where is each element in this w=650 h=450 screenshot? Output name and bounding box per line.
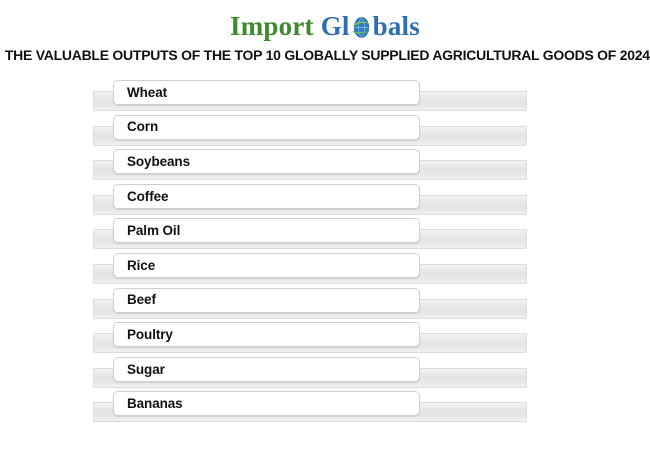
bar-label: Sugar — [114, 363, 165, 377]
bar-label: Corn — [114, 120, 158, 134]
bar-label: Palm Oil — [114, 224, 180, 238]
bar-label: Poultry — [114, 328, 173, 342]
brand-word-import: Import — [230, 13, 314, 40]
bar-label-plate[interactable]: Coffee — [113, 184, 420, 209]
page-title: THE VALUABLE OUTPUTS OF THE TOP 10 GLOBA… — [5, 48, 645, 64]
infographic-page: Import Gl bals THE VALUABLE OUTPUTS OF T… — [0, 0, 650, 450]
brand-logo-text: Import Gl bals — [230, 13, 420, 40]
chart-row: Beef — [0, 288, 650, 322]
chart-row: Palm Oil — [0, 218, 650, 252]
brand-logo: Import Gl bals — [0, 8, 650, 44]
bar-label: Beef — [114, 293, 156, 307]
bar-label-plate[interactable]: Bananas — [113, 391, 420, 416]
bar-label-plate[interactable]: Corn — [113, 115, 420, 140]
bar-label-plate[interactable]: Beef — [113, 288, 420, 313]
bar-label-plate[interactable]: Palm Oil — [113, 218, 420, 243]
bar-label: Coffee — [114, 190, 168, 204]
bar-label-plate[interactable]: Wheat — [113, 80, 420, 105]
chart-row: Poultry — [0, 322, 650, 356]
bar-label-plate[interactable]: Soybeans — [113, 149, 420, 174]
chart-row: Corn — [0, 115, 650, 149]
bar-label: Rice — [114, 259, 155, 273]
bar-label: Bananas — [114, 397, 183, 411]
chart-row: Wheat — [0, 80, 650, 114]
bar-chart: Wheat Corn Soybeans Coffee Palm Oil — [0, 80, 650, 432]
bar-label: Wheat — [114, 86, 167, 100]
brand-word-gl: Gl — [321, 13, 350, 40]
globe-icon — [350, 16, 373, 39]
chart-row: Bananas — [0, 391, 650, 425]
bar-label-plate[interactable]: Poultry — [113, 322, 420, 347]
bar-label-plate[interactable]: Rice — [113, 253, 420, 278]
bar-label-plate[interactable]: Sugar — [113, 357, 420, 382]
chart-row: Sugar — [0, 357, 650, 391]
chart-row: Soybeans — [0, 149, 650, 183]
bar-label: Soybeans — [114, 155, 190, 169]
chart-row: Coffee — [0, 184, 650, 218]
brand-word-bals: bals — [373, 13, 420, 40]
chart-row: Rice — [0, 253, 650, 287]
